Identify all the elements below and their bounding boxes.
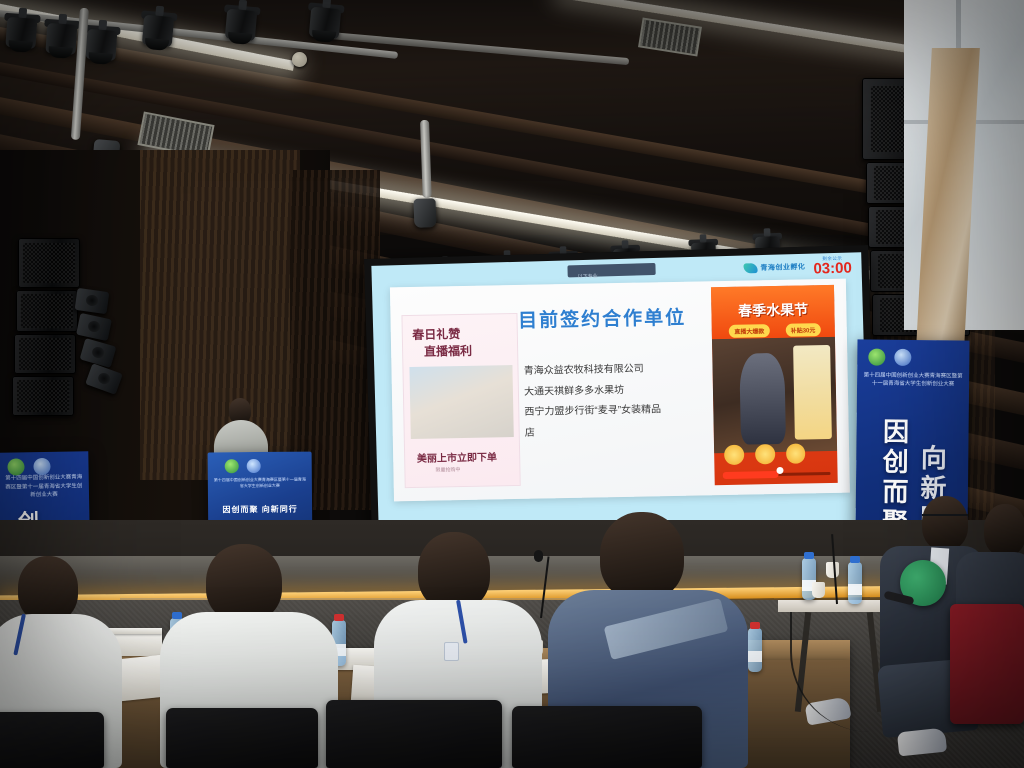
slide-body: 青海众益农牧科技有限公司 大通天祺鲜多多水果坊 西宁力盟步行街“麦寻”女装精品 …: [524, 358, 717, 444]
bottle-cap-icon: [750, 622, 760, 629]
logo-text: 青海创业孵化: [760, 262, 805, 273]
leaf-logo-icon: [224, 459, 238, 473]
mock-right-progress[interactable]: [722, 472, 830, 477]
mock-right-pill-left: 直播大爆款: [729, 324, 769, 338]
podium-logos: [224, 459, 260, 473]
speaker-cabinet: [12, 376, 74, 416]
leaf-logo-icon: [868, 348, 885, 365]
water-bottle: [848, 562, 862, 604]
line-array-speaker: [75, 288, 110, 314]
timer-value: 03:00: [813, 261, 852, 276]
bottle-cap-icon: [334, 614, 344, 621]
bottle-cap-icon: [850, 556, 860, 563]
attendee-head: [600, 512, 684, 600]
ppt-toolbar-label: 以下专业: [568, 274, 598, 281]
speaker-cabinet: [16, 290, 78, 332]
water-bottle: [748, 628, 762, 672]
podium-main-text: 因创而聚 向新同行: [212, 504, 308, 516]
mock-left-heading-1: 春日礼赞: [412, 325, 460, 343]
chair: [512, 706, 702, 768]
led-screen-surface: 以下专业 青海创业孵化 剩余公示 03:00 春日礼赞 直播福利: [371, 252, 868, 534]
mock-left-video: [410, 365, 514, 439]
glasses-icon: [922, 514, 968, 524]
livestream-mock-left: 春日礼赞 直播福利 美丽上市立即下单 限量抢购中: [402, 313, 521, 489]
speaker-cabinet: [18, 238, 80, 288]
mock-right-product-panel: [794, 345, 833, 440]
globe-logo-icon: [246, 459, 260, 473]
attendee-head: [18, 556, 78, 622]
livestream-mock-right: 春季水果节 直播大爆款 补贴30元: [711, 285, 838, 485]
banner-right-subtitle: 第十四届中国创新创业大赛青海赛区暨第十一届青海省大学生创新创业大赛: [863, 371, 964, 389]
stage-light: [308, 0, 342, 45]
microphone-head: [534, 550, 543, 562]
mock-left-footer-sub: 限量抢购中: [435, 466, 460, 473]
stage-light: [85, 21, 118, 67]
logo-mark-icon: [743, 263, 757, 273]
chair: [166, 708, 318, 768]
photo-scene: 以下专业 青海创业孵化 剩余公示 03:00 春日礼赞 直播福利: [0, 0, 1024, 768]
ceiling-camera: [413, 198, 436, 228]
paper-cup: [812, 582, 825, 598]
led-display: 以下专业 青海创业孵化 剩余公示 03:00 春日礼赞 直播福利: [364, 245, 876, 541]
bottle-cap-icon: [804, 552, 814, 559]
globe-logo-icon: [894, 348, 911, 365]
slide-line: 店: [525, 420, 717, 444]
mock-right-chip: [755, 444, 775, 464]
banner-logos: [7, 458, 50, 476]
mock-left-footer: 美丽上市立即下单: [417, 449, 497, 466]
presentation-slide: 春日礼赞 直播福利 美丽上市立即下单 限量抢购中 目前签约合作单位 青海众益农牧…: [390, 279, 850, 502]
stage-light: [45, 15, 78, 61]
countdown-timer: 剩余公示 03:00: [813, 255, 852, 276]
mock-right-pill-right: 补贴30元: [786, 323, 821, 337]
mock-right-chip: [724, 445, 744, 465]
name-badge: [444, 642, 459, 661]
banner-logos: [868, 348, 911, 365]
chair: [326, 700, 502, 768]
podium-subtitle: 第十四届中国创新创业大赛青海赛区暨第十一届青海省大学生创新创业大赛: [212, 476, 308, 489]
mock-right-title: 春季水果节: [712, 299, 835, 321]
attendee-head: [418, 532, 490, 610]
chair: [950, 604, 1024, 724]
stage-light: [5, 9, 38, 55]
mock-right-host: [740, 353, 786, 445]
led-screen-header: 青海创业孵化 剩余公示 03:00: [743, 255, 852, 278]
globe-logo-icon: [33, 458, 50, 475]
stage-light: [224, 1, 258, 47]
leaf-logo-icon: [7, 458, 24, 475]
mock-right-chip: [786, 444, 806, 464]
stage-light: [141, 7, 175, 53]
ppt-toolbar[interactable]: 以下专业: [567, 263, 655, 277]
guest-head: [984, 504, 1024, 556]
attendee-head: [206, 544, 282, 622]
chair: [0, 712, 104, 768]
progress-knob[interactable]: [776, 467, 783, 474]
bottle-cap-icon: [172, 612, 182, 619]
speaker-cabinet: [14, 334, 76, 374]
slide-title: 目前签约合作单位: [518, 303, 687, 333]
event-logo: 青海创业孵化: [743, 262, 805, 274]
banner-left-subtitle: 第十四届中国创新创业大赛青海赛区暨第十一届青海省大学生创新创业大赛: [3, 473, 84, 500]
mock-left-heading-2: 直播福利: [424, 342, 472, 360]
